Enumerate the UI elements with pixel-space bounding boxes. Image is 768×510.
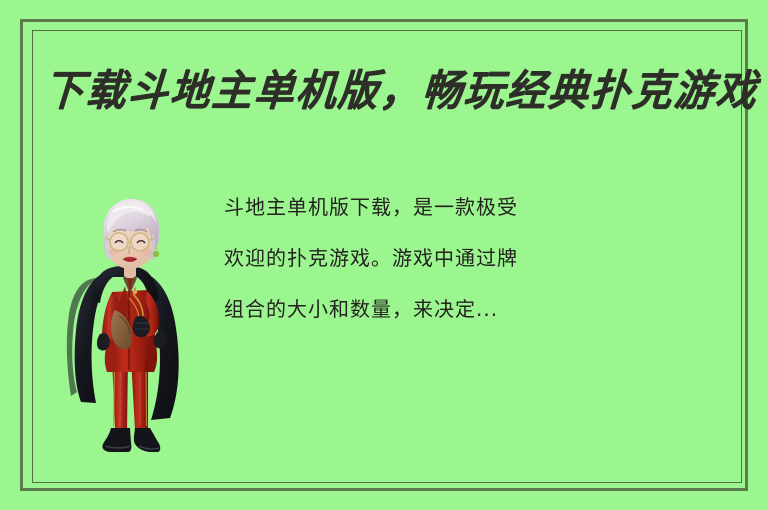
page-title: 下载斗地主单机版，畅玩经典扑克游戏 [42,52,747,122]
character-illustration [55,182,195,464]
poster-canvas: 下载斗地主单机版，畅玩经典扑克游戏 斗地主单机版下载，是一款极受欢迎的扑克游戏。… [0,0,768,510]
body-paragraph: 斗地主单机版下载，是一款极受欢迎的扑克游戏。游戏中通过牌组合的大小和数量，来决定… [224,182,524,335]
